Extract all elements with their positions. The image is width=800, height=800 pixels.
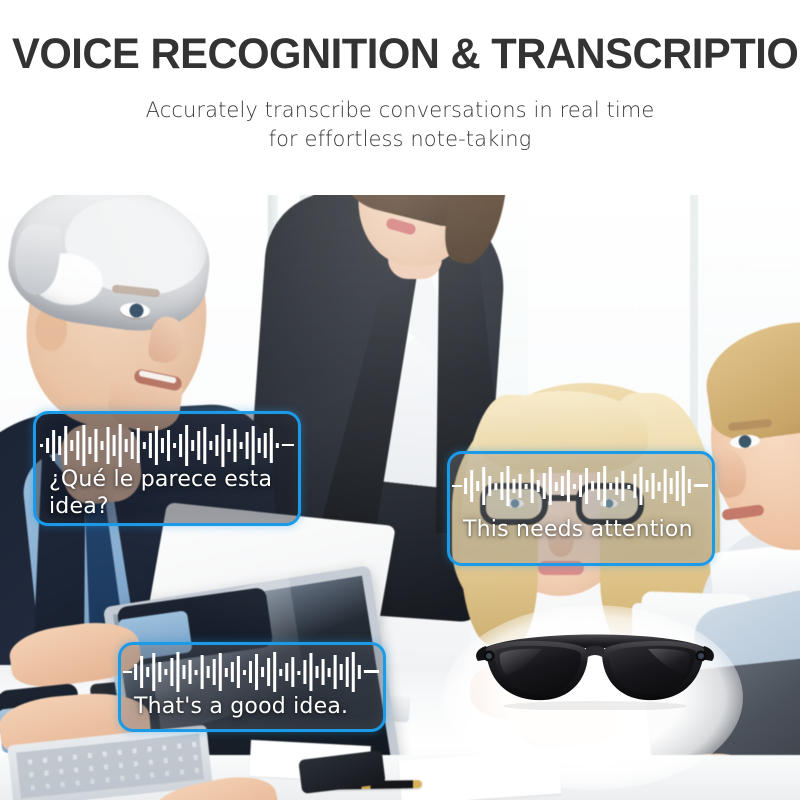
header-section: VOICE RECOGNITION & TRANSCRIPTION Accura… <box>0 0 800 195</box>
transcription-bubble-spanish[interactable]: ¿Qué le parece esta idea? <box>33 411 301 526</box>
transcription-text: This needs attention <box>463 516 702 543</box>
page-title: VOICE RECOGNITION & TRANSCRIPTION <box>12 30 788 79</box>
smart-sunglasses-product <box>470 620 720 710</box>
sunglasses-icon <box>470 620 720 710</box>
waveform-icon <box>36 422 298 468</box>
transcription-text: That's a good idea. <box>134 693 373 720</box>
transcription-bubble-attention[interactable]: This needs attention <box>447 451 715 566</box>
promo-page: VOICE RECOGNITION & TRANSCRIPTION Accura… <box>0 0 800 800</box>
waveform-icon <box>450 464 712 508</box>
transcription-bubble-good-idea[interactable]: That's a good idea. <box>118 642 386 732</box>
page-subtitle: Accurately transcribe conversations in r… <box>0 96 800 154</box>
subtitle-line-1: Accurately transcribe conversations in r… <box>146 98 655 122</box>
transcription-text: ¿Qué le parece esta idea? <box>49 466 288 520</box>
waveform-icon <box>121 651 383 693</box>
subtitle-line-2: for effortless note-taking <box>0 125 800 154</box>
